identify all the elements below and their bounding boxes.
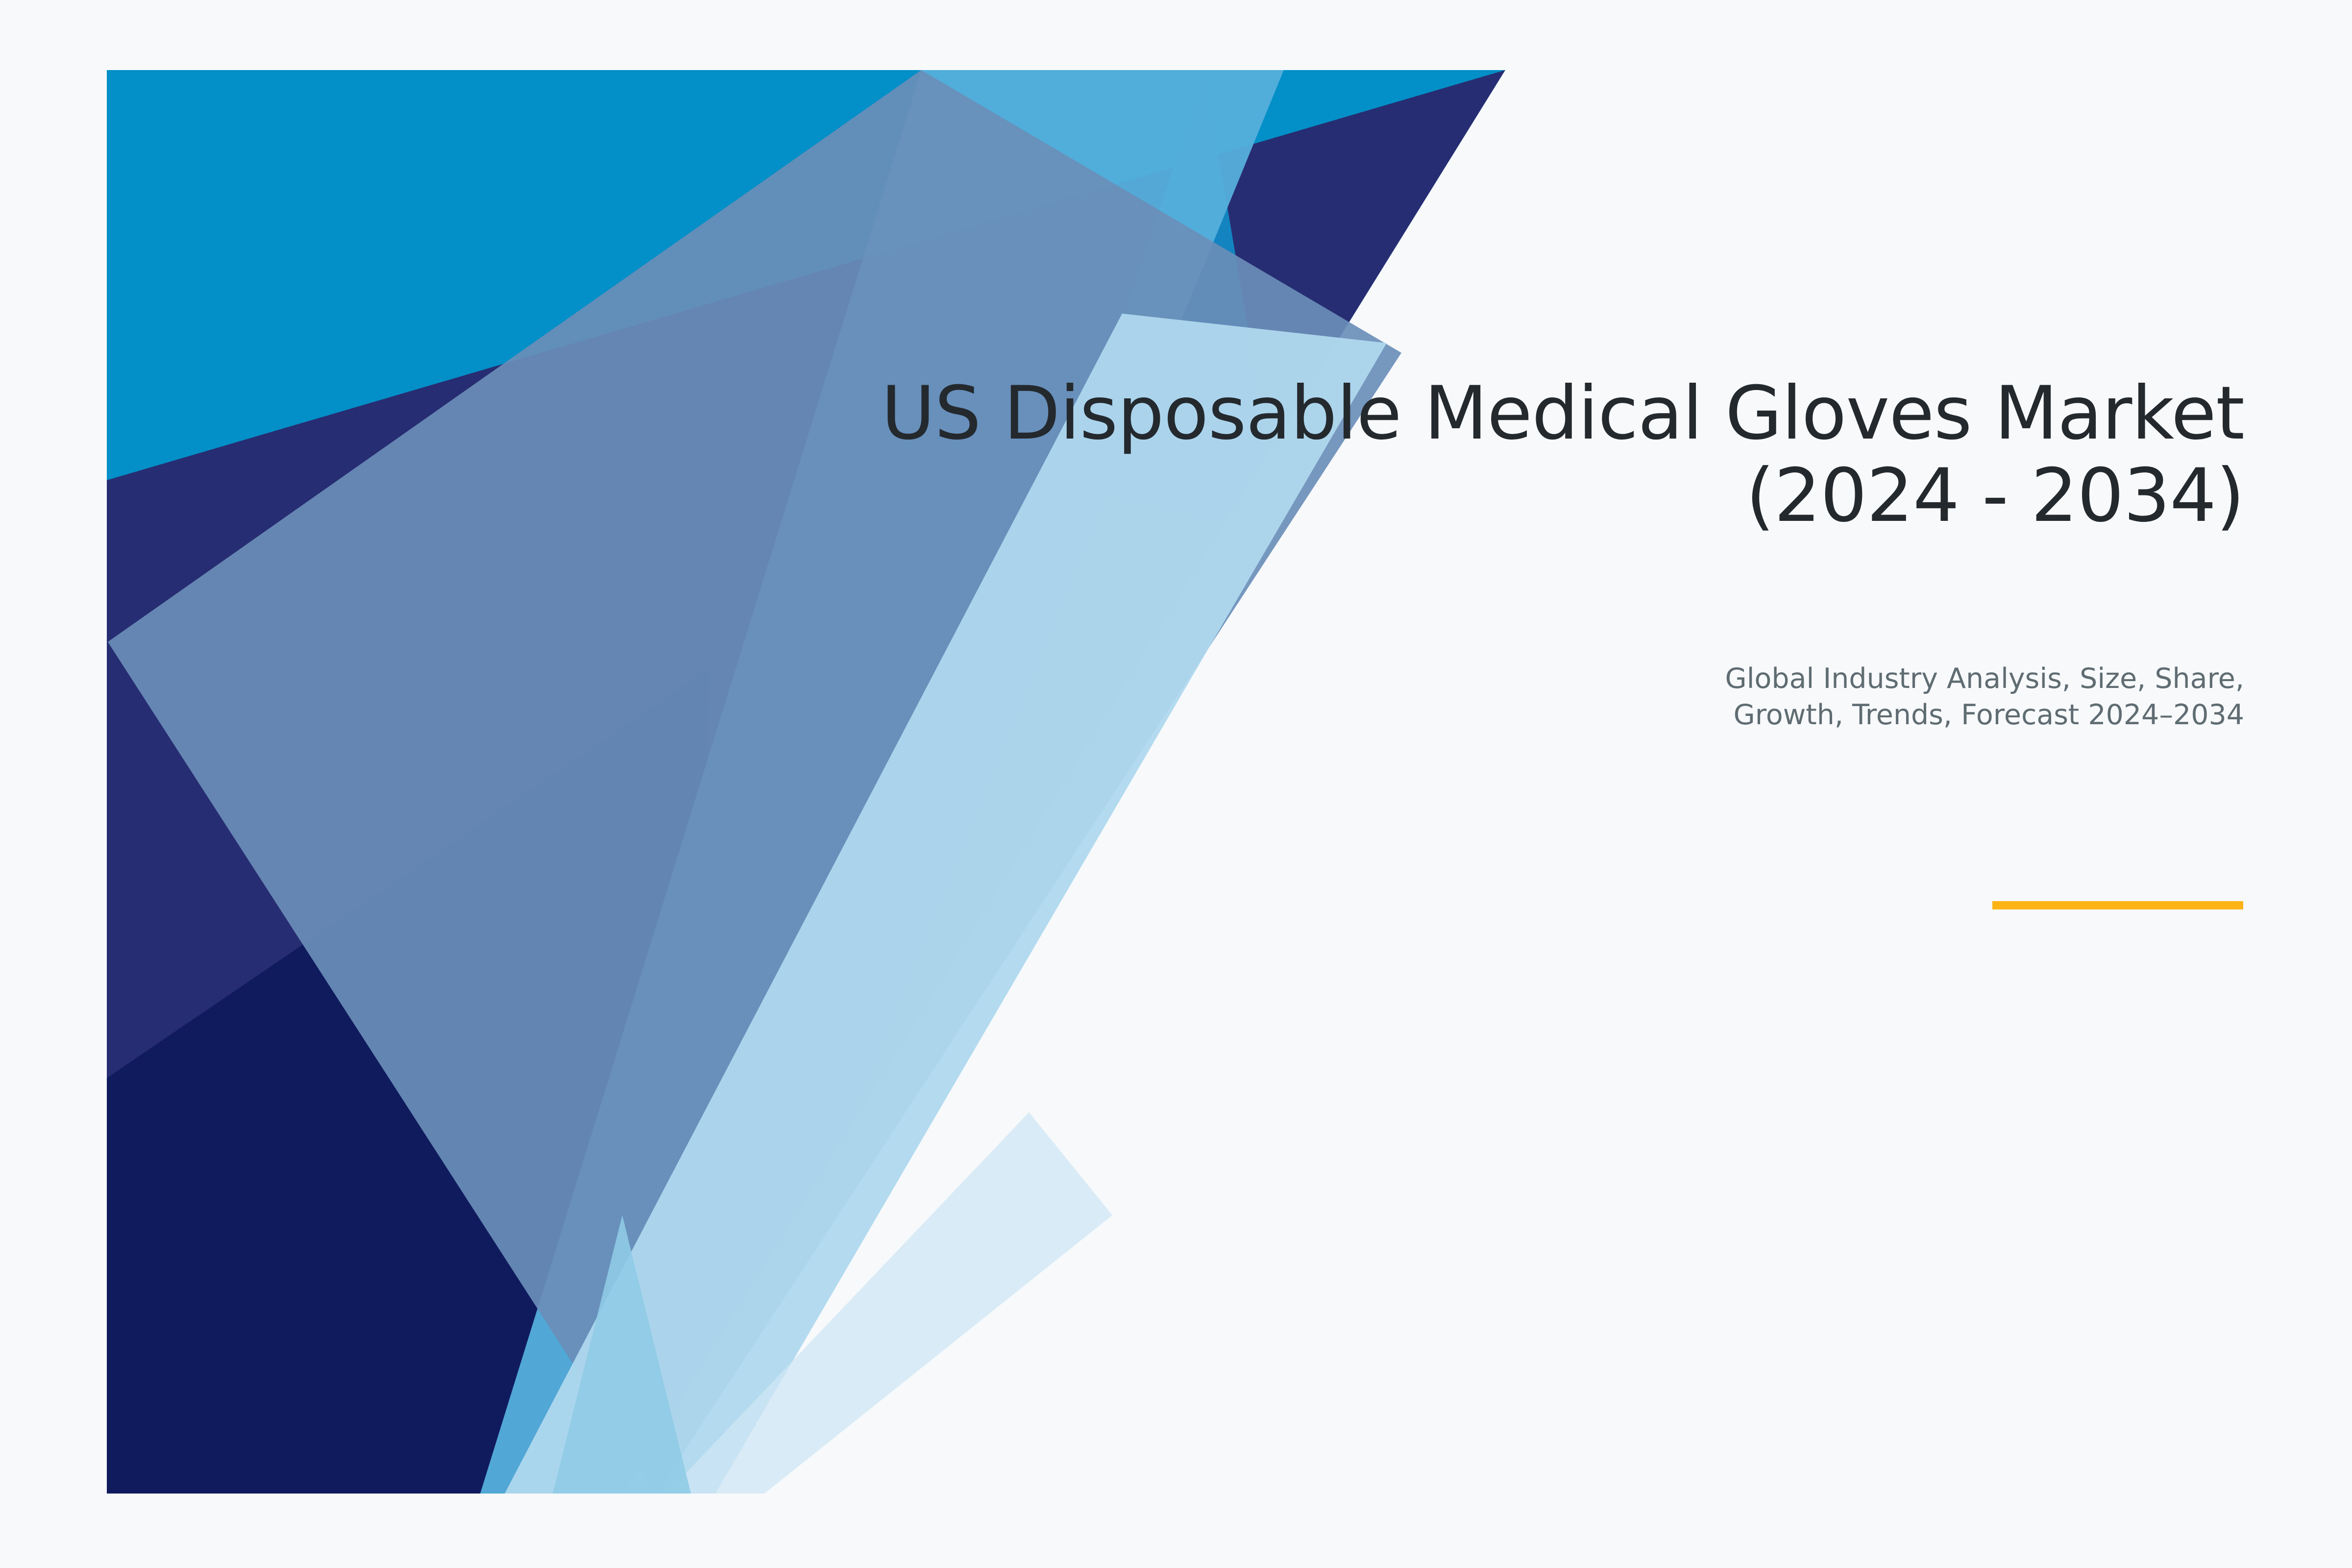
light-blue-notch-shape bbox=[553, 1215, 691, 1494]
mid-blue-band-shape bbox=[480, 70, 1284, 1494]
pale-blue-accent-shape bbox=[666, 1112, 1112, 1494]
navy-wedge-shape bbox=[107, 70, 1505, 1494]
cover-subtitle: Global Industry Analysis, Size, Share, G… bbox=[970, 661, 2244, 733]
accent-underline-bar bbox=[1992, 901, 2243, 909]
page-title: US Disposable Medical Gloves Market (202… bbox=[676, 372, 2244, 537]
slate-blue-overlay-shape bbox=[108, 70, 1401, 1494]
cyan-base-shape bbox=[107, 70, 1528, 1496]
abstract-geometric-artwork bbox=[0, 0, 2352, 1568]
cover-text-block: US Disposable Medical Gloves Market (202… bbox=[676, 372, 2244, 537]
artwork-shape-group bbox=[107, 70, 1528, 1496]
deep-navy-spike-shape bbox=[107, 668, 710, 1494]
report-cover: US Disposable Medical Gloves Market (202… bbox=[0, 0, 2352, 1568]
